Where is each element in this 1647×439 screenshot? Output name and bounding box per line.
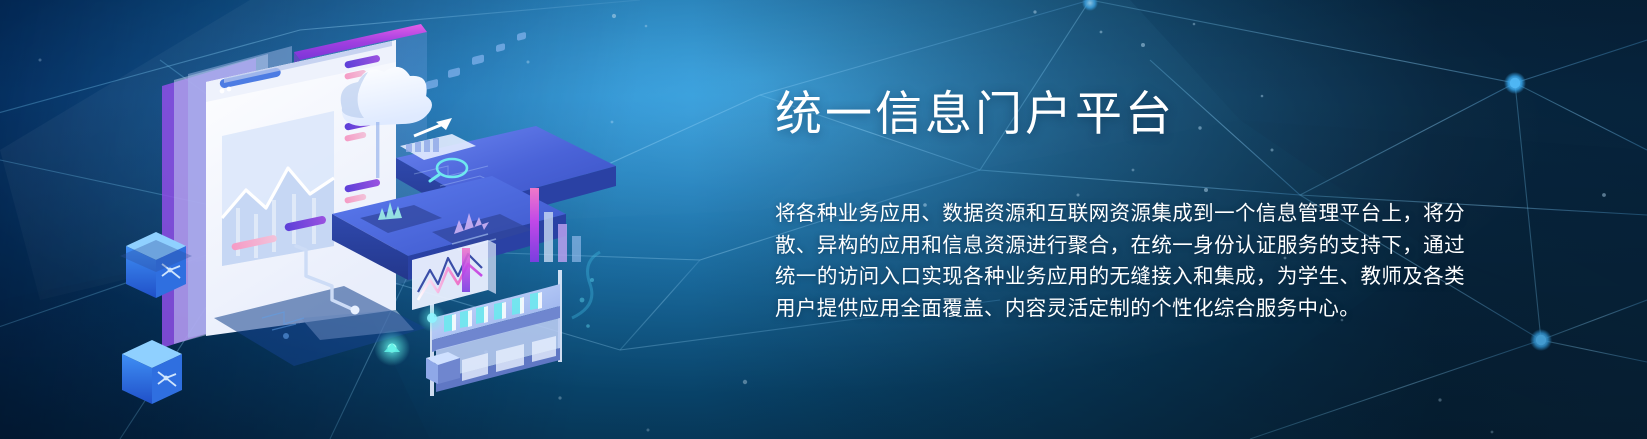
banner-description: 将各种业务应用、数据资源和互联网资源集成到一个信息管理平台上，将分散、异构的应用… [775, 198, 1465, 324]
banner-copy: 统一信息门户平台 将各种业务应用、数据资源和互联网资源集成到一个信息管理平台上，… [775, 86, 1475, 324]
network-cube-node-bottom [122, 340, 182, 404]
isometric-data-platform-illustration [96, 18, 616, 418]
hero-banner: 统一信息门户平台 将各种业务应用、数据资源和互联网资源集成到一个信息管理平台上，… [0, 0, 1647, 439]
page-title: 统一信息门户平台 [775, 86, 1475, 144]
glow-particle [374, 330, 410, 366]
cable-connector-tip [351, 306, 360, 315]
